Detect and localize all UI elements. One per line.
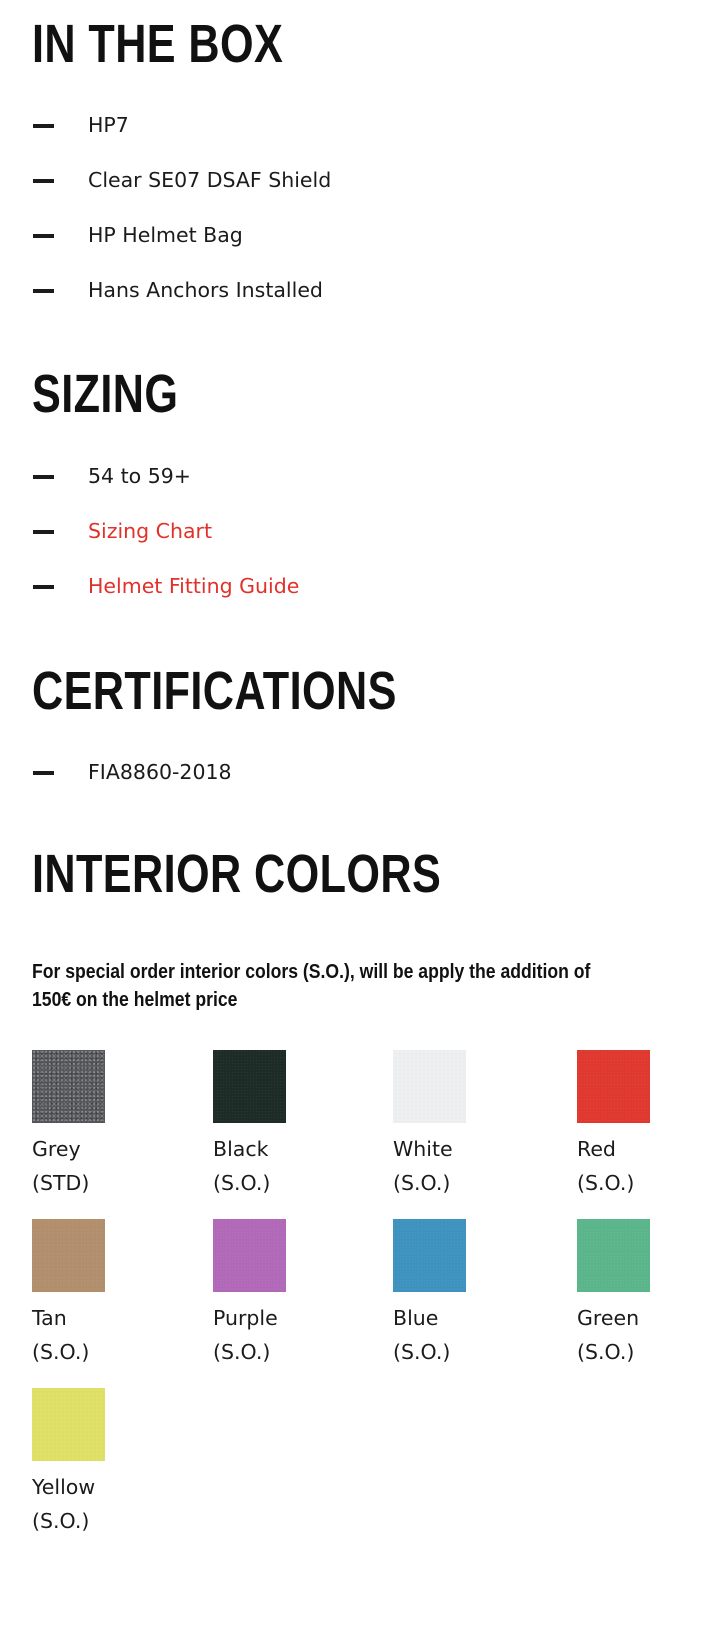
in-the-box-list: HP7 Clear SE07 DSAF Shield HP Helmet Bag…	[0, 98, 331, 318]
swatch-name: Blue	[393, 1301, 553, 1335]
dash-bullet-icon	[33, 179, 54, 183]
section-heading-certifications: CERTIFICATIONS	[32, 665, 397, 718]
interior-color-swatch-grid: Grey (STD) Black (S.O.) White (S.O.) Red…	[0, 1050, 711, 1570]
swatch-chip-yellow[interactable]	[32, 1388, 105, 1461]
sizing-list: 54 to 59+ Sizing Chart Helmet Fitting Gu…	[0, 449, 299, 614]
list-item: Hans Anchors Installed	[0, 263, 331, 318]
dash-bullet-icon	[33, 289, 54, 293]
dash-bullet-icon	[33, 124, 54, 128]
section-heading-sizing: SIZING	[32, 368, 178, 421]
swatch-green[interactable]: Green (S.O.)	[577, 1219, 711, 1369]
list-item-helmet-fitting-guide[interactable]: Helmet Fitting Guide	[0, 559, 299, 614]
list-item-label: FIA8860-2018	[88, 745, 232, 800]
swatch-chip-purple[interactable]	[213, 1219, 286, 1292]
list-item: HP7	[0, 98, 331, 153]
swatch-name: White	[393, 1132, 553, 1166]
swatch-chip-grey[interactable]	[32, 1050, 105, 1123]
dash-bullet-icon	[33, 771, 54, 775]
swatch-availability: (S.O.)	[213, 1166, 373, 1200]
swatch-name: Purple	[213, 1301, 373, 1335]
swatch-chip-tan[interactable]	[32, 1219, 105, 1292]
list-item: HP Helmet Bag	[0, 208, 331, 263]
swatch-chip-white[interactable]	[393, 1050, 466, 1123]
swatch-chip-blue[interactable]	[393, 1219, 466, 1292]
swatch-purple[interactable]: Purple (S.O.)	[213, 1219, 373, 1369]
list-item: FIA8860-2018	[0, 745, 232, 800]
swatch-name: Yellow	[32, 1470, 192, 1504]
swatch-name: Red	[577, 1132, 711, 1166]
dash-bullet-icon	[33, 234, 54, 238]
section-sizing: SIZING	[32, 368, 215, 421]
swatch-blue[interactable]: Blue (S.O.)	[393, 1219, 553, 1369]
list-item-label: HP Helmet Bag	[88, 208, 243, 263]
dash-bullet-icon	[33, 585, 54, 589]
swatch-tan[interactable]: Tan (S.O.)	[32, 1219, 192, 1369]
swatch-availability: (S.O.)	[577, 1166, 711, 1200]
swatch-name: Tan	[32, 1301, 192, 1335]
section-certifications: CERTIFICATIONS	[32, 665, 488, 718]
list-item-label: Clear SE07 DSAF Shield	[88, 153, 331, 208]
swatch-availability: (S.O.)	[393, 1166, 553, 1200]
list-item: Clear SE07 DSAF Shield	[0, 153, 331, 208]
swatch-availability: (S.O.)	[32, 1504, 192, 1538]
swatch-name: Black	[213, 1132, 373, 1166]
swatch-availability: (S.O.)	[213, 1335, 373, 1369]
swatch-yellow[interactable]: Yellow (S.O.)	[32, 1388, 192, 1538]
helmet-fitting-guide-link[interactable]: Helmet Fitting Guide	[88, 559, 299, 614]
swatch-chip-black[interactable]	[213, 1050, 286, 1123]
swatch-red[interactable]: Red (S.O.)	[577, 1050, 711, 1200]
list-item-label: HP7	[88, 98, 129, 153]
swatch-grey[interactable]: Grey (STD)	[32, 1050, 192, 1200]
section-heading-interior-colors: INTERIOR COLORS	[32, 848, 441, 901]
section-interior-colors: INTERIOR COLORS	[32, 848, 544, 901]
section-in-the-box: IN THE BOX	[32, 18, 346, 71]
list-item-label: 54 to 59+	[88, 449, 191, 504]
certifications-list: FIA8860-2018	[0, 745, 232, 800]
swatch-availability: (S.O.)	[577, 1335, 711, 1369]
swatch-availability: (S.O.)	[32, 1335, 192, 1369]
list-item: 54 to 59+	[0, 449, 299, 504]
swatch-chip-green[interactable]	[577, 1219, 650, 1292]
swatch-chip-red[interactable]	[577, 1050, 650, 1123]
section-heading-in-the-box: IN THE BOX	[32, 18, 283, 71]
swatch-white[interactable]: White (S.O.)	[393, 1050, 553, 1200]
special-order-note: For special order interior colors (S.O.)…	[32, 958, 613, 1015]
swatch-name: Green	[577, 1301, 711, 1335]
swatch-availability: (S.O.)	[393, 1335, 553, 1369]
list-item-sizing-chart[interactable]: Sizing Chart	[0, 504, 299, 559]
swatch-name: Grey	[32, 1132, 192, 1166]
dash-bullet-icon	[33, 475, 54, 479]
swatch-black[interactable]: Black (S.O.)	[213, 1050, 373, 1200]
swatch-availability: (STD)	[32, 1166, 192, 1200]
sizing-chart-link[interactable]: Sizing Chart	[88, 504, 212, 559]
product-details-panel: IN THE BOX HP7 Clear SE07 DSAF Shield HP…	[0, 0, 711, 1625]
list-item-label: Hans Anchors Installed	[88, 263, 323, 318]
dash-bullet-icon	[33, 530, 54, 534]
